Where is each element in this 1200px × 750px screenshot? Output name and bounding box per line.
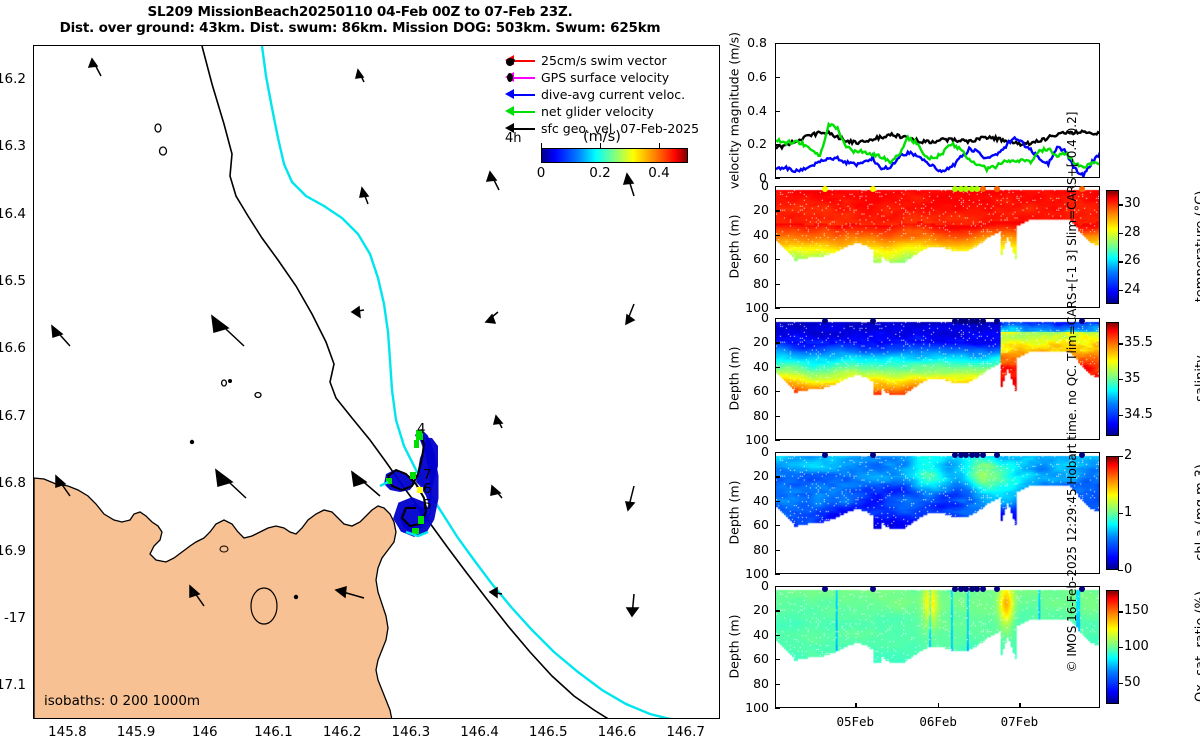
surface-marker-dot [1079, 452, 1085, 458]
oxygen-section-colorbar-tick: 150 [1124, 603, 1149, 618]
salinity-section-panel[interactable] [775, 318, 1100, 440]
salinity-section-y-tick: 40 [733, 359, 769, 374]
temperature-section-colorbar-tick: 28 [1124, 225, 1141, 240]
chla-section-colorbar-tick-mark [1118, 456, 1123, 457]
map-y-tick-label: 16.3 [0, 138, 26, 154]
temperature-section-canvas [776, 187, 1099, 307]
surface-marker-dot [870, 452, 876, 458]
oxygen-section-y-tick-mark [775, 635, 780, 636]
surface-marker-dot [870, 186, 876, 192]
salinity-section-y-tick-mark [775, 342, 780, 343]
legend-entry: 25cm/s swim vector [505, 52, 715, 69]
map-colorbar-tick [541, 143, 542, 149]
island-9 [190, 440, 194, 444]
oxygen-section-panel[interactable] [775, 586, 1100, 708]
salinity-section-colorbar-tick: 35 [1124, 371, 1141, 386]
salinity-section-colorbar-tick: 34.5 [1124, 407, 1153, 422]
velocity-y-tick-mark [775, 43, 780, 44]
temperature-section-y-tick-mark [775, 284, 780, 285]
temperature-section-colorbar [1106, 190, 1119, 304]
oxygen-section-y-tick-mark [775, 708, 780, 709]
isobath-legend: isobaths: 0 200 1000m [44, 693, 200, 709]
legend-entry-label: sfc geo. vel. 07-Feb-2025 [541, 121, 699, 136]
legend-entry: GPS surface velocity [505, 69, 715, 86]
geo-arrow [626, 486, 634, 510]
temperature-section-y-tick: 40 [733, 227, 769, 242]
section-x-tick-mark [855, 703, 856, 708]
salinity-section-y-tick-mark [775, 367, 780, 368]
salinity-section-y-tick: 0 [733, 310, 769, 325]
map-x-tick-label: 146.2 [307, 724, 377, 740]
legend-arrow-icon [505, 122, 539, 136]
chla-section-y-tick-mark [775, 574, 780, 575]
geo-arrow [216, 470, 246, 498]
geo-arrow [494, 416, 502, 428]
surface-marker-dots [775, 317, 1100, 325]
section-x-tick: 05Feb [827, 714, 883, 729]
surface-marker-dot [822, 186, 828, 192]
temperature-section-colorbar-tick: 24 [1124, 282, 1141, 297]
section-x-tick: 06Feb [910, 714, 966, 729]
map-y-tick-label: 16.5 [0, 273, 26, 289]
velocity-y-tick: 0.6 [731, 69, 767, 84]
surface-marker-dots [775, 185, 1100, 193]
section-x-tick: 07Feb [991, 714, 1047, 729]
chla-section-y-tick-mark [775, 501, 780, 502]
temperature-section-colorbar-tick-mark [1118, 233, 1123, 234]
geo-arrow [360, 188, 368, 204]
salinity-section-y-tick: 20 [733, 334, 769, 349]
surface-marker-dot [994, 586, 1000, 592]
map-x-tick-label: 146.3 [376, 724, 446, 740]
velocity-y-tick-mark [775, 144, 780, 145]
temperature-section-y-tick-mark [775, 308, 780, 309]
surface-marker-dot [980, 452, 986, 458]
chla-section-colorbar-tick-mark [1118, 513, 1123, 514]
oxygen-section-y-tick-mark [775, 659, 780, 660]
chla-section-colorbar-tick: 1 [1124, 505, 1132, 520]
map-x-tick-label: 146 [170, 724, 240, 740]
oxygen-section-y-tick: 0 [733, 578, 769, 593]
map-x-tick-label: 146.7 [651, 724, 721, 740]
geo-arrow [52, 326, 70, 346]
oxygen-section-y-tick: 60 [733, 651, 769, 666]
island-5 [255, 393, 261, 398]
chla-section-y-tick-mark [775, 550, 780, 551]
chla-section-y-tick-mark [775, 525, 780, 526]
surface-marker-dot [994, 318, 1000, 324]
salinity-section-y-tick-mark [775, 318, 780, 319]
legend-entry: sfc geo. vel. 07-Feb-2025 [505, 120, 715, 137]
velocity-magnitude-panel[interactable] [775, 43, 1100, 178]
legend-entry: dive-avg current veloc. [505, 86, 715, 103]
legend-entry-label: 25cm/s swim vector [541, 53, 667, 68]
oxygen-section-y-tick: 100 [733, 700, 769, 715]
velocity-y-tick-mark [775, 111, 780, 112]
title-line-1: SL209 MissionBeach20250110 04-Feb 00Z to… [0, 4, 720, 20]
map-legend: 25cm/s swim vectorGPS surface velocitydi… [505, 52, 715, 137]
temperature-section-y-tick-mark [775, 210, 780, 211]
chla-section-y-tick-mark [775, 476, 780, 477]
legend-entry-label: net glider velocity [541, 104, 654, 119]
temperature-section-y-tick-mark [775, 235, 780, 236]
map-y-tick-label: 16.4 [0, 206, 26, 222]
geo-arrow [626, 304, 634, 324]
island-1 [251, 588, 277, 624]
surface-marker-dot [822, 318, 828, 324]
map-x-tick-label: 146.5 [513, 724, 583, 740]
temperature-section-colorbar-tick-mark [1118, 204, 1123, 205]
velocity-y-tick-mark [775, 178, 780, 179]
map-svg [34, 46, 719, 718]
section-x-tick-mark [938, 703, 939, 708]
track-label-6: 6 [423, 481, 432, 497]
temperature-section-y-tick: 20 [733, 202, 769, 217]
geo-arrow [487, 172, 499, 190]
chla-section-y-tick: 20 [733, 468, 769, 483]
map-x-tick-label: 146.1 [238, 724, 308, 740]
map-colorbar-tick [659, 143, 660, 149]
map-y-tick-label: -17 [0, 610, 26, 626]
map-x-tick-label: 145.8 [32, 724, 102, 740]
surface-marker-dot [980, 318, 986, 324]
surface-marker-dot [980, 586, 986, 592]
temperature-section-panel[interactable] [775, 186, 1100, 308]
velocity-y-tick-mark [775, 77, 780, 78]
geo-arrow [624, 174, 634, 196]
salinity-section-y-tick: 60 [733, 383, 769, 398]
track-label-4: 4 [417, 421, 426, 437]
map-y-tick-label: 16.2 [0, 71, 26, 87]
chla-section-panel[interactable] [775, 452, 1100, 574]
oxygen-section-colorbar-tick: 100 [1124, 639, 1149, 654]
island-7 [228, 379, 232, 383]
island-4 [160, 147, 167, 155]
title-line-2: Dist. over ground: 43km. Dist. swum: 86k… [0, 20, 720, 36]
surface-marker-dot [870, 586, 876, 592]
island-6 [222, 380, 227, 386]
surface-marker-dot [1079, 318, 1085, 324]
map-panel[interactable] [33, 45, 720, 719]
map-y-tick-label: 16.7 [0, 408, 26, 424]
map-canvas [34, 46, 719, 718]
geo-arrow [89, 59, 101, 76]
velocity-chart [776, 44, 1100, 178]
map-x-tick-label: 146.6 [582, 724, 652, 740]
oxygen-section-colorbar-title: Ox. sat. ratio (%) [1194, 562, 1200, 732]
temperature-section-y-tick: 80 [733, 276, 769, 291]
chla-section-colorbar-tick: 0 [1124, 562, 1132, 577]
oxygen-section-y-tick-mark [775, 610, 780, 611]
page-title: SL209 MissionBeach20250110 04-Feb 00Z to… [0, 4, 720, 36]
legend-entry-label: GPS surface velocity [541, 70, 669, 85]
legend-entry: net glider velocity [505, 103, 715, 120]
geo-arrow [352, 472, 380, 496]
island-2 [220, 546, 228, 552]
legend-arrow-icon [505, 54, 539, 68]
surface-marker-dots [775, 451, 1100, 459]
map-colorbar-tick-label: 0.4 [639, 165, 679, 181]
oxygen-section-y-tick-mark [775, 586, 780, 587]
legend-entry-label: dive-avg current veloc. [541, 87, 685, 102]
geo-arrow [352, 307, 364, 317]
chla-section-colorbar-tick: 2 [1124, 448, 1132, 463]
temperature-section-colorbar-tick-mark [1118, 290, 1123, 291]
temperature-section-y-tick: 60 [733, 251, 769, 266]
oxygen-section-colorbar-tick-mark [1118, 683, 1123, 684]
geo-arrow [486, 312, 498, 323]
map-colorbar-tick [600, 143, 601, 149]
map-y-tick-label: 16.6 [0, 340, 26, 356]
legend-arrow-icon [505, 88, 539, 102]
surface-marker-dot [822, 586, 828, 592]
oxygen-section-y-tick: 20 [733, 602, 769, 617]
chla-section-y-tick-mark [775, 452, 780, 453]
temperature-section-colorbar-tick-mark [1118, 261, 1123, 262]
salinity-section-y-tick-mark [775, 416, 780, 417]
chla-section-canvas [776, 453, 1099, 573]
geo-arrow [212, 316, 244, 346]
oxygen-section-canvas [776, 587, 1099, 707]
track-label-5: 5 [423, 497, 432, 513]
series-net-glider-velocity [776, 124, 1100, 171]
surface-marker-dots [775, 585, 1100, 593]
legend-arrow-icon [505, 105, 539, 119]
map-x-tick-label: 146.4 [445, 724, 515, 740]
island-8 [294, 595, 298, 599]
velocity-y-tick: 0.8 [731, 35, 767, 50]
map-y-tick-label: 16.9 [0, 543, 26, 559]
salinity-section-y-tick-mark [775, 391, 780, 392]
surface-marker-dot [994, 452, 1000, 458]
temperature-section-colorbar-tick: 30 [1124, 196, 1141, 211]
temperature-section-y-tick-mark [775, 186, 780, 187]
salinity-section-colorbar-tick-mark [1118, 343, 1123, 344]
velocity-y-tick: 0.4 [731, 103, 767, 118]
salinity-section-colorbar-tick: 35.5 [1124, 335, 1153, 350]
map-x-tick-label: 145.9 [101, 724, 171, 740]
map-y-tick-label: 17.1 [0, 677, 26, 693]
oxygen-section-y-tick: 80 [733, 676, 769, 691]
salinity-section-y-tick: 80 [733, 408, 769, 423]
temperature-section-y-tick: 0 [733, 178, 769, 193]
surface-marker-dot [1079, 186, 1085, 192]
chla-section-y-tick: 80 [733, 542, 769, 557]
salinity-section-y-tick-mark [775, 440, 780, 441]
surface-marker-dot [980, 186, 986, 192]
geo-arrow [491, 486, 502, 498]
surface-marker-dot [1079, 586, 1085, 592]
copyright-note: © IMOS 16-Feb-2025 12:29:45 Hobart time.… [1065, 42, 1079, 742]
chla-section-y-tick: 40 [733, 493, 769, 508]
legend-arrow-icon [505, 71, 539, 85]
map-colorbar [541, 148, 688, 163]
land-mass [34, 478, 396, 718]
salinity-section-colorbar-tick-mark [1118, 415, 1123, 416]
section-x-tick-mark [1019, 703, 1020, 708]
salinity-section-colorbar-tick-mark [1118, 379, 1123, 380]
temperature-section-y-tick-mark [775, 259, 780, 260]
chla-section-y-tick: 0 [733, 444, 769, 459]
oxygen-section-y-tick-mark [775, 684, 780, 685]
geo-arrow [356, 70, 364, 82]
oxygen-section-colorbar-tick-mark [1118, 647, 1123, 648]
temperature-section-colorbar-tick: 26 [1124, 253, 1141, 268]
chla-section-y-tick: 60 [733, 517, 769, 532]
map-y-tick-label: 16.8 [0, 475, 26, 491]
velocity-y-tick: 0.2 [731, 136, 767, 151]
map-colorbar-tick-label: 0 [521, 165, 561, 181]
oxygen-section-colorbar-tick: 50 [1124, 675, 1141, 690]
salinity-section-canvas [776, 319, 1099, 439]
geo-arrow [627, 594, 638, 616]
oxygen-section-colorbar-tick-mark [1118, 611, 1123, 612]
surface-marker-dot [870, 318, 876, 324]
chla-section-colorbar-tick-mark [1118, 570, 1123, 571]
oxygen-section-y-tick: 40 [733, 627, 769, 642]
surface-marker-dot [822, 452, 828, 458]
map-colorbar-tick-label: 0.2 [580, 165, 620, 181]
surface-marker-dot [994, 186, 1000, 192]
island-3 [155, 124, 161, 132]
